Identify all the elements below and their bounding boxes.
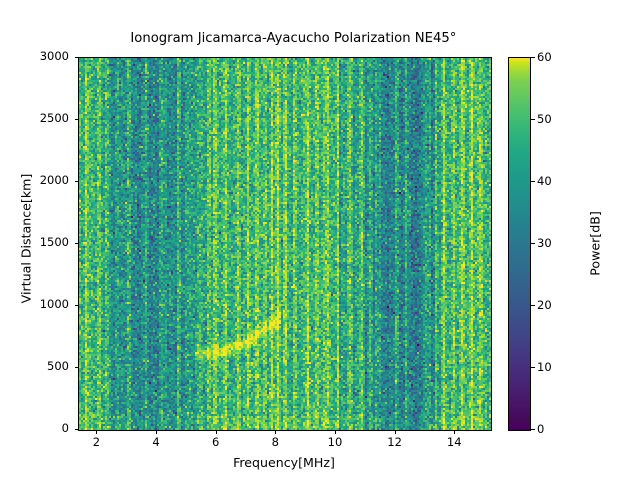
- colorbar-tick-label: 50: [537, 113, 567, 125]
- colorbar-tick-text: 0: [537, 423, 567, 435]
- x-axis-tick-text: 12: [375, 436, 415, 449]
- x-axis-tick-mark: [335, 430, 336, 434]
- y-axis-tick-label: 3000: [0, 51, 69, 63]
- y-axis-tick-mark: [75, 367, 79, 368]
- colorbar-tick-text: 20: [537, 299, 567, 311]
- y-axis-tick-mark: [75, 429, 79, 430]
- x-axis-tick-label: 14: [434, 436, 474, 450]
- colorbar-tick-label: 30: [537, 237, 567, 249]
- y-axis-tick-mark: [75, 305, 79, 306]
- x-axis-tick-mark: [275, 430, 276, 434]
- x-axis-tick-label: 10: [315, 436, 355, 450]
- colorbar-tick-mark: [531, 57, 535, 58]
- y-axis-tick-mark: [75, 181, 79, 182]
- x-axis-tick-label: 6: [196, 436, 236, 450]
- colorbar-tick-label: 10: [537, 361, 567, 373]
- y-axis-tick-label: 2500: [0, 113, 69, 125]
- colorbar-tick-mark: [531, 243, 535, 244]
- x-axis-tick-text: 4: [136, 436, 176, 449]
- colorbar-tick-label: 40: [537, 175, 567, 187]
- x-axis-tick-text: 2: [76, 436, 116, 449]
- x-axis-tick-label: 4: [136, 436, 176, 450]
- y-axis-tick-text: 1500: [0, 237, 69, 249]
- x-axis-tick-label: 2: [76, 436, 116, 450]
- colorbar: [508, 57, 531, 431]
- x-axis-tick-mark: [96, 430, 97, 434]
- colorbar-tick-mark: [531, 367, 535, 368]
- colorbar-tick-text: 40: [537, 175, 567, 187]
- y-axis-tick-label: 0: [0, 423, 69, 435]
- y-axis-tick-label: 500: [0, 361, 69, 373]
- colorbar-tick-text: 50: [537, 113, 567, 125]
- colorbar-tick-text: 30: [537, 237, 567, 249]
- x-axis-tick-text: 6: [196, 436, 236, 449]
- x-axis-label: Frequency[MHz]: [78, 455, 490, 470]
- ionogram-figure: Ionogram Jicamarca-Ayacucho Polarization…: [0, 0, 640, 480]
- x-axis-tick-mark: [156, 430, 157, 434]
- y-axis-tick-mark: [75, 119, 79, 120]
- y-axis-tick-text: 0: [0, 423, 69, 435]
- colorbar-tick-text: 10: [537, 361, 567, 373]
- ionogram-plot-area: [78, 57, 492, 431]
- y-axis-tick-text: 1000: [0, 299, 69, 311]
- x-axis-tick-text: 14: [434, 436, 474, 449]
- colorbar-tick-mark: [531, 305, 535, 306]
- x-axis-tick-text: 8: [255, 436, 295, 449]
- y-axis-tick-text: 3000: [0, 51, 69, 63]
- colorbar-tick-text: 60: [537, 51, 567, 63]
- colorbar-gradient: [509, 58, 530, 430]
- ionogram-heatmap-canvas: [79, 58, 491, 430]
- y-axis-tick-text: 2000: [0, 175, 69, 187]
- y-axis-tick-text: 2500: [0, 113, 69, 125]
- y-axis-tick-mark: [75, 243, 79, 244]
- colorbar-tick-label: 0: [537, 423, 567, 435]
- y-axis-tick-text: 500: [0, 361, 69, 373]
- chart-title-line1: Ionogram Jicamarca-Ayacucho Polarization…: [130, 31, 456, 46]
- y-axis-tick-mark: [75, 57, 79, 58]
- colorbar-tick-mark: [531, 119, 535, 120]
- colorbar-tick-label: 20: [537, 299, 567, 311]
- y-axis-tick-label: 2000: [0, 175, 69, 187]
- x-axis-tick-mark: [395, 430, 396, 434]
- y-axis-tick-label: 1500: [0, 237, 69, 249]
- x-axis-tick-label: 12: [375, 436, 415, 450]
- x-axis-tick-mark: [216, 430, 217, 434]
- y-axis-tick-label: 1000: [0, 299, 69, 311]
- x-axis-tick-text: 10: [315, 436, 355, 449]
- colorbar-tick-mark: [531, 181, 535, 182]
- x-axis-tick-label: 8: [255, 436, 295, 450]
- colorbar-tick-mark: [531, 429, 535, 430]
- colorbar-tick-label: 60: [537, 51, 567, 63]
- x-axis-tick-mark: [454, 430, 455, 434]
- colorbar-label: Power[dB]: [588, 89, 603, 399]
